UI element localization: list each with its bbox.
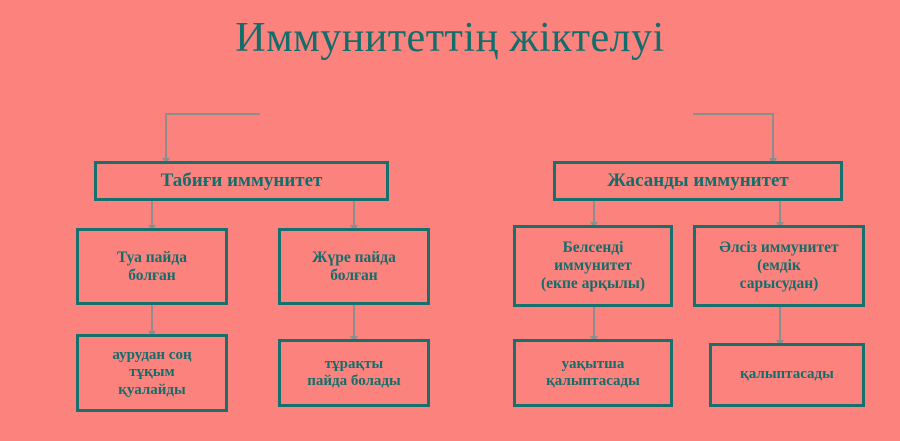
connector-natural-to-innate [151, 200, 153, 228]
node-active-immunity-line1: Белсенді [520, 239, 666, 257]
node-innate-line1: Туа пайда [83, 249, 221, 267]
node-acquired[interactable]: Жүре пайда болған [278, 228, 430, 305]
node-natural-immunity[interactable]: Табиғи иммунитет [94, 161, 389, 201]
node-acquired-result-line2: пайда болады [285, 373, 423, 390]
connector-acquired-to-result [353, 305, 355, 339]
node-active-result-line2: қалыптасады [520, 373, 666, 390]
node-innate-result-line3: қуалайды [83, 382, 221, 399]
connector-passive-to-result [779, 307, 781, 343]
node-passive-result-line1: қалыптасады [716, 366, 858, 383]
node-passive-immunity-line2: (емдік [700, 257, 858, 275]
node-acquired-result[interactable]: тұрақты пайда болады [278, 339, 430, 407]
node-active-result-line1: уақытша [520, 356, 666, 373]
node-innate[interactable]: Туа пайда болған [76, 228, 228, 305]
node-passive-result[interactable]: қалыптасады [709, 343, 865, 407]
connector-root-left-horizontal [165, 113, 260, 115]
page-title: Иммунитеттің жіктелуі [0, 14, 900, 62]
node-acquired-result-line1: тұрақты [285, 356, 423, 373]
node-active-immunity-line2: иммунитет [520, 257, 666, 275]
connector-root-right-horizontal [693, 113, 774, 115]
connector-root-left-vertical [165, 113, 167, 161]
node-active-immunity-line3: (екпе арқылы) [520, 275, 666, 293]
connector-active-to-result [593, 307, 595, 339]
node-active-result[interactable]: уақытша қалыптасады [513, 339, 673, 407]
node-acquired-line2: болған [285, 267, 423, 285]
node-innate-result[interactable]: аурудан соң тұқым қуалайды [76, 334, 228, 412]
connector-innate-to-result [151, 305, 153, 334]
connector-natural-to-acquired [353, 200, 355, 228]
node-natural-immunity-line1: Табиғи иммунитет [101, 170, 382, 192]
node-innate-result-line2: тұқым [83, 364, 221, 381]
node-active-immunity[interactable]: Белсенді иммунитет (екпе арқылы) [513, 225, 673, 307]
node-artificial-immunity-line1: Жасанды иммунитет [560, 170, 836, 192]
node-acquired-line1: Жүре пайда [285, 249, 423, 267]
node-innate-result-line1: аурудан соң [83, 347, 221, 364]
node-passive-immunity-line3: сарысудан) [700, 275, 858, 293]
node-passive-immunity-line1: Әлсіз иммунитет [700, 239, 858, 257]
connector-root-right-vertical [772, 113, 774, 161]
diagram-canvas: Иммунитеттің жіктелуі Табиғи иммунитет Ж… [0, 0, 900, 441]
node-artificial-immunity[interactable]: Жасанды иммунитет [553, 161, 843, 201]
node-passive-immunity[interactable]: Әлсіз иммунитет (емдік сарысудан) [693, 225, 865, 307]
node-innate-line2: болған [83, 267, 221, 285]
